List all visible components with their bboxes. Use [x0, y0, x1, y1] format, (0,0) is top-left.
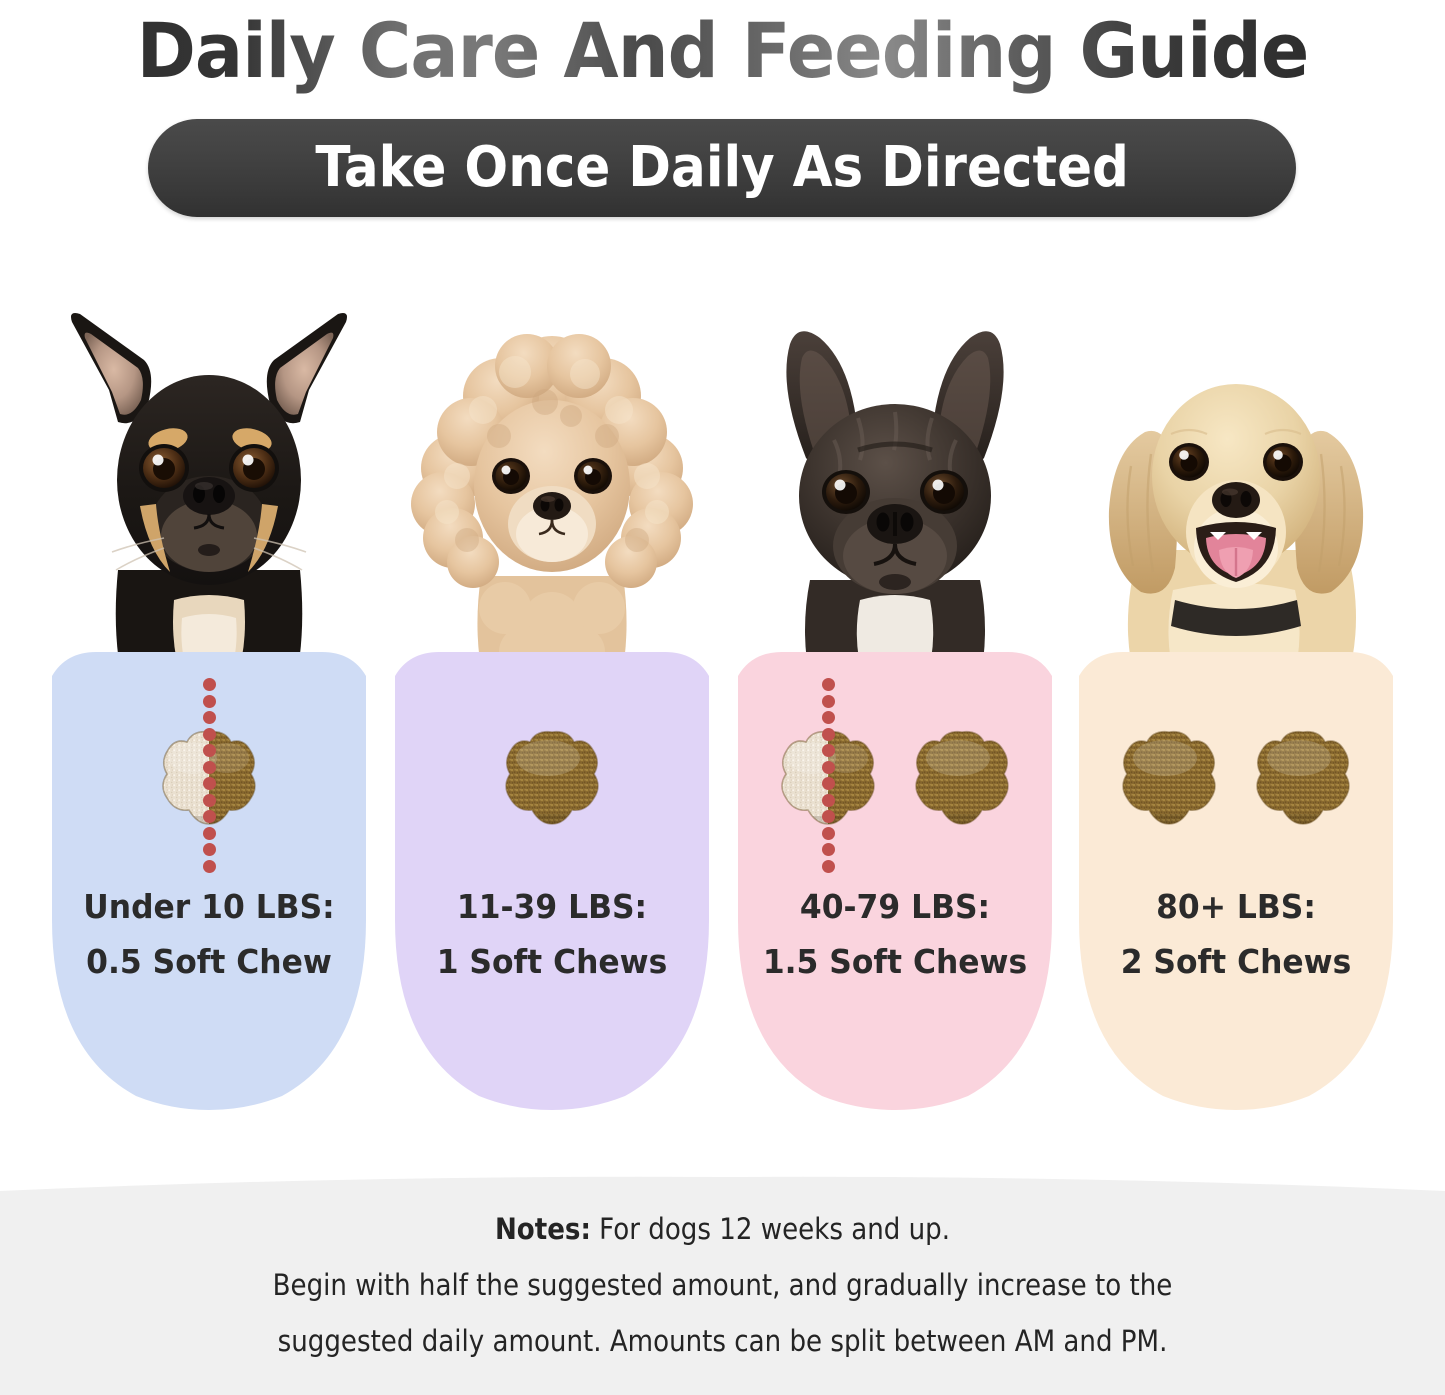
dog-photo-golden-retriever — [1079, 300, 1393, 680]
divider-dot — [203, 777, 216, 790]
divider-dot — [203, 678, 216, 691]
notes-line-3: suggested daily amount. Amounts can be s… — [72, 1313, 1373, 1369]
divider-dot — [203, 794, 216, 807]
subtitle-text: Take Once Daily As Directed — [315, 138, 1129, 198]
divider-dot — [822, 744, 835, 757]
divider-dot — [822, 728, 835, 741]
divider-dot — [822, 777, 835, 790]
notes-line-2: Begin with half the suggested amount, an… — [72, 1257, 1373, 1313]
dosage-card-11-39lbs[interactable]: 11-39 LBS: 1 Soft Chews — [395, 300, 709, 1110]
divider-dot — [822, 761, 835, 774]
dosage-label-3: 40-79 LBS: 1.5 Soft Chews — [738, 880, 1052, 990]
divider-dot — [203, 827, 216, 840]
dog-photo-french-bulldog — [738, 300, 1052, 680]
full-chew-icon — [1113, 724, 1225, 836]
full-chew-icon — [1247, 724, 1359, 836]
weight-range-label: 80+ LBS: — [1087, 880, 1385, 934]
half-dose-divider-1 — [202, 678, 216, 873]
notes-section: Notes: For dogs 12 weeks and up. Begin w… — [0, 1175, 1445, 1395]
feeding-guide-page: Daily Care And Feeding Guide Take Once D… — [0, 0, 1445, 1395]
header: Daily Care And Feeding Guide Take Once D… — [0, 0, 1445, 230]
divider-dot — [822, 794, 835, 807]
weight-range-label: 11-39 LBS: — [403, 880, 701, 934]
dosage-cards-row: Under 10 LBS: 0.5 Soft Chew — [0, 300, 1445, 1110]
divider-dot — [203, 810, 216, 823]
weight-range-label: 40-79 LBS: — [746, 880, 1044, 934]
full-chew-icon — [906, 724, 1018, 836]
divider-dot — [822, 711, 835, 724]
dosage-card-80plus-lbs[interactable]: 80+ LBS: 2 Soft Chews — [1079, 300, 1393, 1110]
divider-dot — [203, 843, 216, 856]
dosage-label-4: 80+ LBS: 2 Soft Chews — [1079, 880, 1393, 990]
divider-dot — [822, 827, 835, 840]
divider-dot — [822, 810, 835, 823]
chew-illustration-group-2 — [395, 700, 709, 860]
dog-photo-chihuahua — [52, 300, 366, 680]
dose-amount-label: 1 Soft Chews — [403, 934, 701, 990]
subtitle-badge: Take Once Daily As Directed — [148, 119, 1296, 217]
dosage-label-2: 11-39 LBS: 1 Soft Chews — [395, 880, 709, 990]
divider-dot — [203, 728, 216, 741]
divider-dot — [203, 744, 216, 757]
dose-amount-label: 2 Soft Chews — [1087, 934, 1385, 990]
dose-amount-label: 0.5 Soft Chew — [60, 934, 358, 990]
divider-dot — [203, 761, 216, 774]
chew-illustration-group-4 — [1079, 700, 1393, 860]
notes-text: Notes: For dogs 12 weeks and up. Begin w… — [0, 1201, 1445, 1369]
full-chew-icon — [496, 724, 608, 836]
dosage-card-under-10lbs[interactable]: Under 10 LBS: 0.5 Soft Chew — [52, 300, 366, 1110]
divider-dot — [203, 711, 216, 724]
dosage-card-40-79lbs[interactable]: 40-79 LBS: 1.5 Soft Chews — [738, 300, 1052, 1110]
divider-dot — [822, 860, 835, 873]
divider-dot — [822, 695, 835, 708]
notes-line-1-rest: For dogs 12 weeks and up. — [591, 1212, 950, 1246]
divider-dot — [822, 843, 835, 856]
dosage-label-1: Under 10 LBS: 0.5 Soft Chew — [52, 880, 366, 990]
page-title: Daily Care And Feeding Guide — [43, 6, 1401, 96]
divider-dot — [203, 860, 216, 873]
half-dose-divider-3 — [821, 678, 835, 873]
dose-amount-label: 1.5 Soft Chews — [746, 934, 1044, 990]
divider-dot — [822, 678, 835, 691]
notes-label: Notes: — [495, 1212, 591, 1246]
notes-line-1: Notes: For dogs 12 weeks and up. — [72, 1201, 1373, 1257]
dog-photo-poodle — [395, 300, 709, 680]
weight-range-label: Under 10 LBS: — [60, 880, 358, 934]
divider-dot — [203, 695, 216, 708]
chew-illustration-group-3 — [738, 700, 1052, 860]
